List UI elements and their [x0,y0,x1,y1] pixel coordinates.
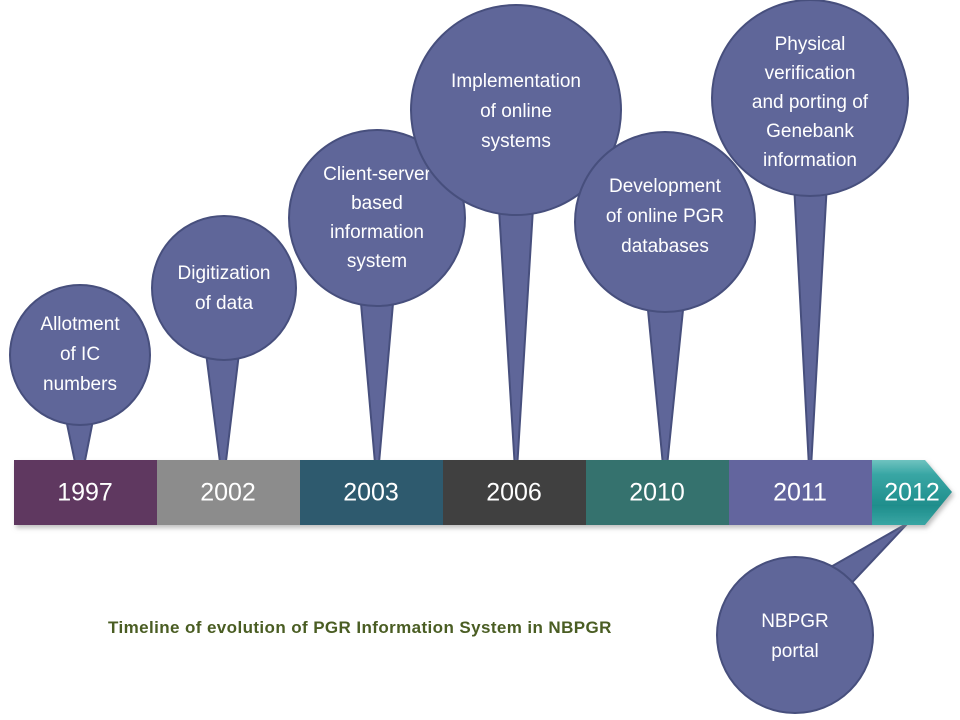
callout-bubble-2011[interactable]: Physical verification and porting of Gen… [712,0,908,196]
bubble-line-2003-0: Client-server [323,164,431,185]
bubble-line-2003-1: based [351,193,403,214]
callout-bubble-2010[interactable]: Development of online PGR databases [575,132,755,312]
bubble-line-2010-0: Development [609,176,722,197]
figure-caption: Timeline of evolution of PGR Information… [108,618,612,637]
callout-bubble-2002[interactable]: Digitization of data [152,216,296,360]
bubble-line-2002-0: Digitization [178,263,271,284]
year-label-2003: 2003 [343,479,399,507]
timeline-diagram: 1997 2002 2003 2006 2010 2011 2012 Allot… [0,0,960,720]
bubble-line-2011-1: verification [765,63,856,84]
bubble-line-1997-1: of IC [60,344,100,365]
bubble-line-1997-0: Allotment [40,314,120,335]
bubble-line-2003-3: system [347,251,407,272]
bubble-line-2003-2: information [330,222,424,243]
year-label-2006: 2006 [486,479,542,507]
callout-tail-2003 [360,292,394,486]
bubble-line-2006-0: Implementation [451,71,581,92]
timeline-figure: 1997 2002 2003 2006 2010 2011 2012 Allot… [0,0,960,720]
bubble-line-2011-3: Genebank [766,121,854,142]
callout-tail-2006 [498,192,534,486]
bubble-line-2002-1: of data [195,293,254,314]
callout-tail-2010 [648,310,683,486]
bubble-circle-2002 [152,216,296,360]
bubble-line-2010-2: databases [621,236,709,257]
bubble-line-2011-4: information [763,150,857,171]
bubble-line-2012-0: NBPGR [761,611,829,632]
bubble-circle-2012 [717,557,873,713]
bubble-line-2012-1: portal [771,641,819,662]
bubble-line-2011-0: Physical [775,34,846,55]
year-label-1997: 1997 [57,479,113,507]
bubble-line-1997-2: numbers [43,374,117,395]
bubble-line-2006-1: of online [480,101,552,122]
bubble-line-2010-1: of online PGR [606,206,724,227]
callout-tail-2011 [793,165,828,486]
bubble-line-2011-2: and porting of [752,92,869,113]
callout-bubble-1997[interactable]: Allotment of IC numbers [10,285,150,425]
year-label-2012: 2012 [884,479,940,507]
callout-bubble-2012[interactable]: NBPGR portal [717,557,873,713]
year-label-2011: 2011 [773,479,827,507]
year-label-2010: 2010 [629,479,685,507]
bubble-line-2006-2: systems [481,131,551,152]
year-label-2002: 2002 [200,479,256,507]
